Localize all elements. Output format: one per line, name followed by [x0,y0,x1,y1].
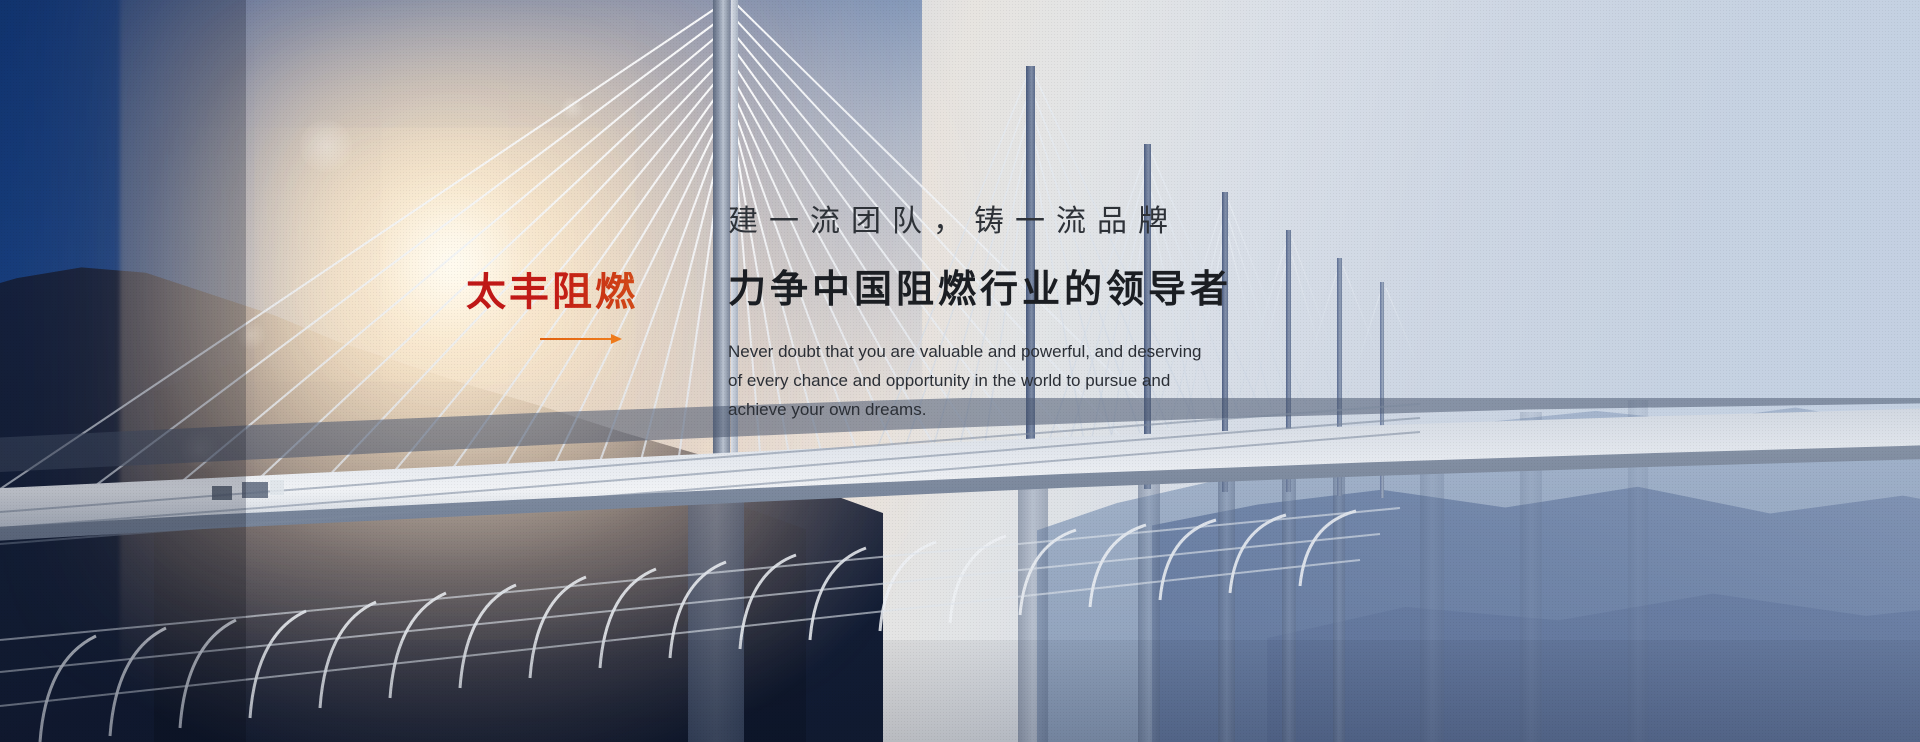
headline-subtitle: 建一流团队，铸一流品牌 [728,196,1348,240]
company-logo[interactable]: 太丰阻燃 [466,272,656,345]
logo-text: 太丰阻燃 [466,272,656,312]
headline-block: 建一流团队，铸一流品牌 力争中国阻燃行业的领导者 Never doubt tha… [728,196,1348,424]
arrow-right-icon [540,333,622,345]
arrow-shaft [540,338,612,340]
description-line-1: Never doubt that you are valuable and po… [728,337,1198,366]
description-line-3: achieve your own dreams. [728,395,1198,424]
arrow-head [611,334,622,344]
description-paragraph: Never doubt that you are valuable and po… [728,337,1198,424]
description-line-2: of every chance and opportunity in the w… [728,366,1198,395]
headline-title: 力争中国阻燃行业的领导者 [728,258,1348,313]
hero-banner: 太丰阻燃 建一流团队，铸一流品牌 力争中国阻燃行业的领导者 Never doub… [0,0,1920,742]
banner-content: 太丰阻燃 建一流团队，铸一流品牌 力争中国阻燃行业的领导者 Never doub… [0,0,1920,742]
